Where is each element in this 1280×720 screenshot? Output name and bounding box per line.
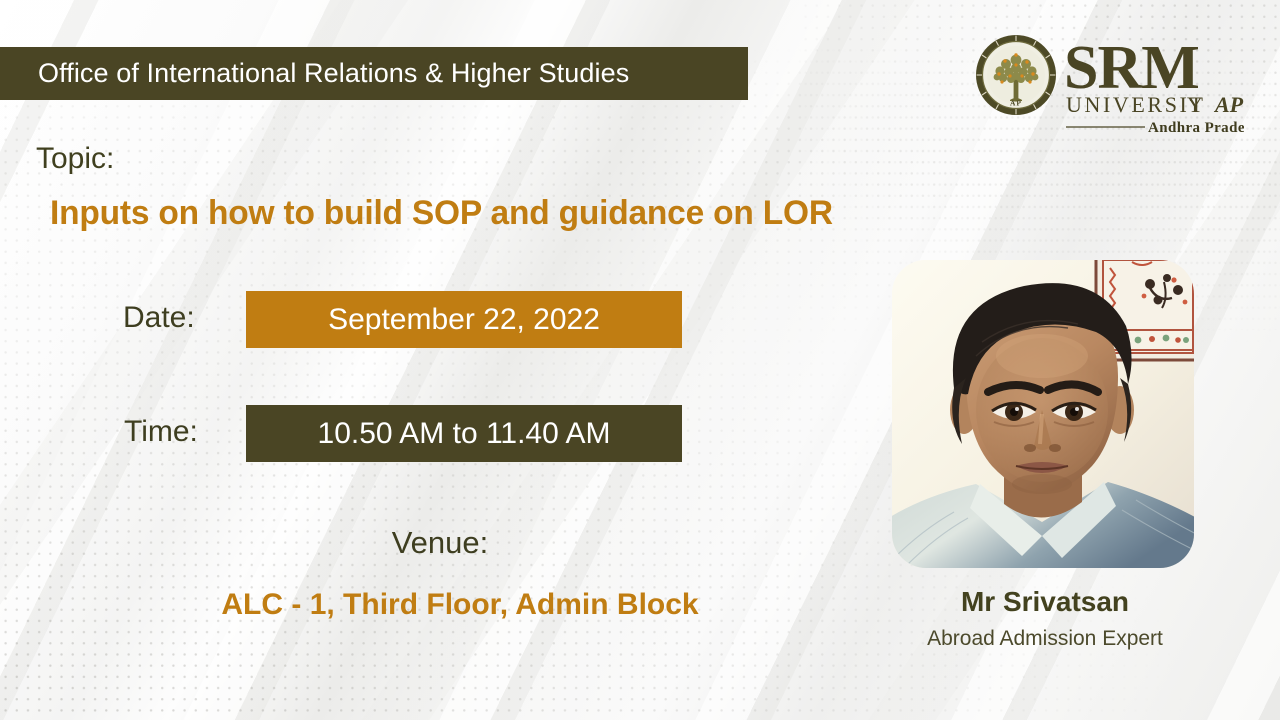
venue-label: Venue: xyxy=(0,525,880,561)
office-header-title: Office of International Relations & High… xyxy=(0,58,629,89)
event-poster: Office of International Relations & High… xyxy=(0,0,1280,720)
time-value-box: 10.50 AM to 11.40 AM xyxy=(246,405,682,462)
srm-university-logo: AP SRM UNIVERSIT Y AP Andhra Pradesh xyxy=(972,30,1244,138)
office-header-banner: Office of International Relations & High… xyxy=(0,47,748,100)
venue-value: ALC - 1, Third Floor, Admin Block xyxy=(0,588,920,622)
speaker-name: Mr Srivatsan xyxy=(850,586,1240,618)
topic-title: Inputs on how to build SOP and guidance … xyxy=(50,194,833,233)
svg-text:Y: Y xyxy=(1187,92,1206,117)
date-value: September 22, 2022 xyxy=(328,303,600,337)
date-value-box: September 22, 2022 xyxy=(246,291,682,348)
time-value: 10.50 AM to 11.40 AM xyxy=(318,417,611,451)
srm-tree-emblem: AP xyxy=(976,35,1056,115)
speaker-portrait-photo xyxy=(892,260,1194,568)
date-label: Date: xyxy=(123,301,195,335)
time-label: Time: xyxy=(124,415,198,449)
logo-region: Andhra Pradesh xyxy=(1148,120,1244,136)
logo-subtitle: UNIVERSIT xyxy=(1066,92,1206,117)
topic-label: Topic: xyxy=(36,142,114,176)
svg-text:AP: AP xyxy=(1010,99,1022,108)
speaker-role: Abroad Admission Expert xyxy=(850,627,1240,651)
svg-text:AP: AP xyxy=(1213,92,1244,117)
